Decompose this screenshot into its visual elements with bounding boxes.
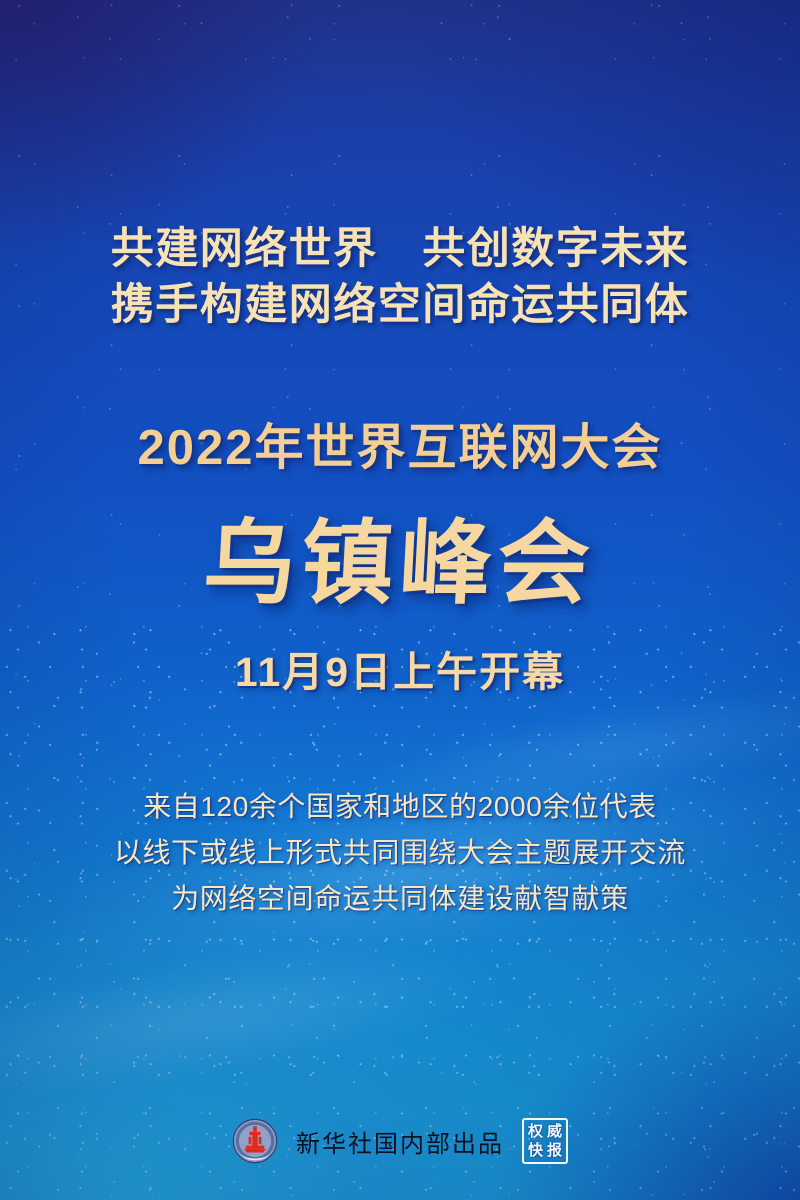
body-line-2: 以线下或线上形式共同围绕大会主题展开交流 — [114, 830, 686, 876]
poster-content: 共建网络世界 共创数字未来 携手构建网络空间命运共同体 2022年世界互联网大会… — [0, 0, 800, 1200]
body-paragraph: 来自120余个国家和地区的2000余位代表 以线下或线上形式共同围绕大会主题展开… — [114, 784, 686, 923]
stamp-char-1: 权 — [528, 1124, 543, 1139]
poster-root: 共建网络世界 共创数字未来 携手构建网络空间命运共同体 2022年世界互联网大会… — [0, 0, 800, 1200]
main-title: 2022年世界互联网大会 — [137, 408, 662, 479]
body-line-1: 来自120余个国家和地区的2000余位代表 — [114, 784, 686, 830]
stamp-char-3: 快 — [528, 1143, 543, 1158]
footer-bar: 新华社国内部出品 权 威 快 报 — [0, 1118, 800, 1164]
authority-express-stamp: 权 威 快 报 — [522, 1118, 568, 1164]
headline-block: 共建网络世界 共创数字未来 携手构建网络空间命运共同体 — [111, 222, 690, 334]
headline-line-1: 共建网络世界 共创数字未来 — [111, 222, 690, 278]
xinhua-agency-logo-icon — [232, 1118, 278, 1164]
producer-credit: 新华社国内部出品 — [296, 1124, 504, 1159]
headline-line-2: 携手构建网络空间命运共同体 — [111, 278, 690, 334]
calligraphy-title: 乌镇峰会 — [200, 489, 599, 622]
body-line-3: 为网络空间命运共同体建设献智献策 — [114, 876, 686, 922]
stamp-char-2: 威 — [547, 1124, 562, 1139]
opening-date-line: 11月9日上午开幕 — [235, 638, 565, 698]
stamp-char-4: 报 — [547, 1143, 562, 1158]
